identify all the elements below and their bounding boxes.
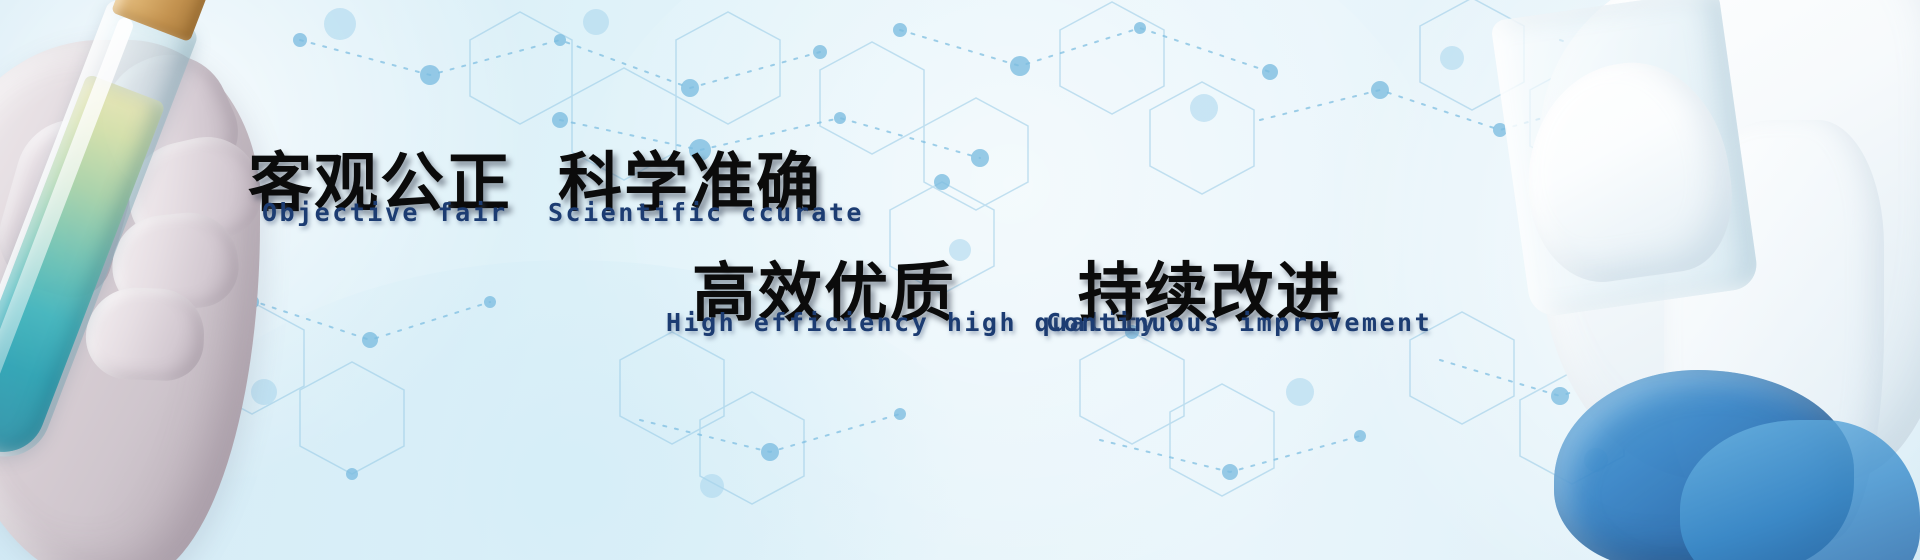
- slogan-text-layer: 客观公正 Objective fair 科学准确 Scientific ccur…: [0, 0, 1920, 560]
- laboratory-slogan-banner: 客观公正 Objective fair 科学准确 Scientific ccur…: [0, 0, 1920, 560]
- slogan-english-scientific-accurate: Scientific ccurate: [548, 198, 864, 227]
- slogan-english-objective-fair: Objective fair: [262, 198, 508, 227]
- slogan-english-continuous-improvement: Continuous improvement: [1046, 308, 1432, 337]
